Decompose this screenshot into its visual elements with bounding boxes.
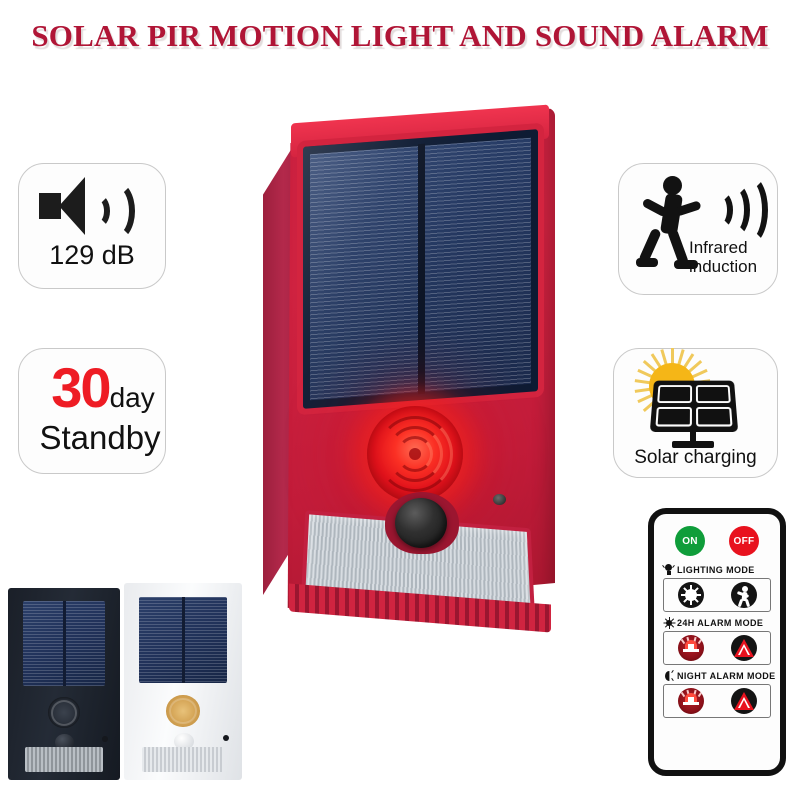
alarm-night-header: NIGHT ALARM MODE [663,670,771,682]
lighting-mode-title: LIGHTING MODE [677,565,755,575]
product-image-main [255,100,575,620]
standby-label: Standby [19,419,181,457]
bulb-icon [663,564,674,576]
alarm-24h-buttons [663,631,771,665]
standby-duration: 30day [19,355,187,420]
solar-panel-glyph [650,381,738,432]
variant-busbar [63,601,66,685]
alarm-24h-siren-button[interactable] [678,635,704,661]
motion-arc-3 [732,175,768,245]
power-off-button[interactable]: OFF [729,526,759,556]
sound-wave-outer [97,181,135,241]
infrared-label-line1: Infrared [689,238,779,257]
moon-icon [663,670,674,682]
variant-busbar [182,597,185,684]
badge-solar-charging: Solar charging [613,348,778,478]
solar-panel [303,129,538,409]
remote-control: ON OFF LIGHTING MODE [648,508,786,776]
alarm-24h-header: 24H ALARM MODE [663,617,771,629]
power-on-button[interactable]: ON [675,526,705,556]
panel-cell [696,407,733,427]
section-24h-alarm-mode: 24H ALARM MODE [663,617,771,665]
speaker-cone [59,177,85,235]
pir-motion-sensor-dome [395,498,447,548]
infrared-label: Infrared induction [689,238,779,276]
standby-number: 30 [51,356,109,419]
badge-infrared-induction: Infrared induction [618,163,778,295]
variant-siren [48,697,79,728]
light-motion-sensing-button[interactable] [731,582,757,608]
alarm-night-buttons [663,684,771,718]
page-title: SOLAR PIR MOTION LIGHT AND SOUND ALARM [0,18,800,54]
lighting-mode-buttons [663,578,771,612]
siren-hub [409,448,421,460]
alarm-24h-title: 24H ALARM MODE [677,618,763,628]
alarm-night-siren-button[interactable] [678,688,704,714]
person-head [663,176,682,195]
section-night-alarm-mode: NIGHT ALARM MODE [663,670,771,718]
section-lighting-mode: LIGHTING MODE [663,564,771,612]
speaker-sound-waves-icon [39,177,149,235]
alarm-24h-warning-button[interactable] [731,635,757,661]
lighting-mode-header: LIGHTING MODE [663,564,771,576]
variant-led-panel [142,747,225,773]
loudness-label: 129 dB [19,240,165,271]
sun-burst-icon [685,589,697,601]
variant-siren-rings [51,700,77,726]
infrared-label-line2: induction [689,257,779,276]
solar-glare [303,129,538,409]
light-always-on-button[interactable] [678,582,704,608]
badge-loudness: 129 dB [18,163,166,289]
variant-led-indicator [223,735,229,741]
alarm-night-warning-button[interactable] [731,688,757,714]
panel-cell [696,385,731,403]
variant-siren-rings [169,698,197,724]
siren-speaker-glowing-red [367,406,463,502]
variant-siren [166,695,199,727]
variant-solar-panel [139,597,226,684]
variant-solar-panel [23,601,106,685]
variant-led-panel [25,747,103,772]
badge-standby: 30day Standby [18,348,166,474]
variant-black [8,588,120,780]
power-button-row: ON OFF [663,526,771,556]
walking-person-motion-icon: Infrared induction [619,164,777,294]
sun-icon [663,617,674,629]
variant-led-indicator [102,736,108,742]
standby-unit: day [110,382,155,413]
speaker-body [39,193,61,219]
variant-white [124,583,242,780]
sun-solar-panel-icon: Solar charging [614,349,777,477]
alarm-night-title: NIGHT ALARM MODE [677,671,776,681]
led-indicator [493,494,506,505]
solar-label: Solar charging [614,447,777,469]
panel-cell [655,407,692,427]
panel-cell [657,385,692,403]
person-foot-back [636,258,658,267]
